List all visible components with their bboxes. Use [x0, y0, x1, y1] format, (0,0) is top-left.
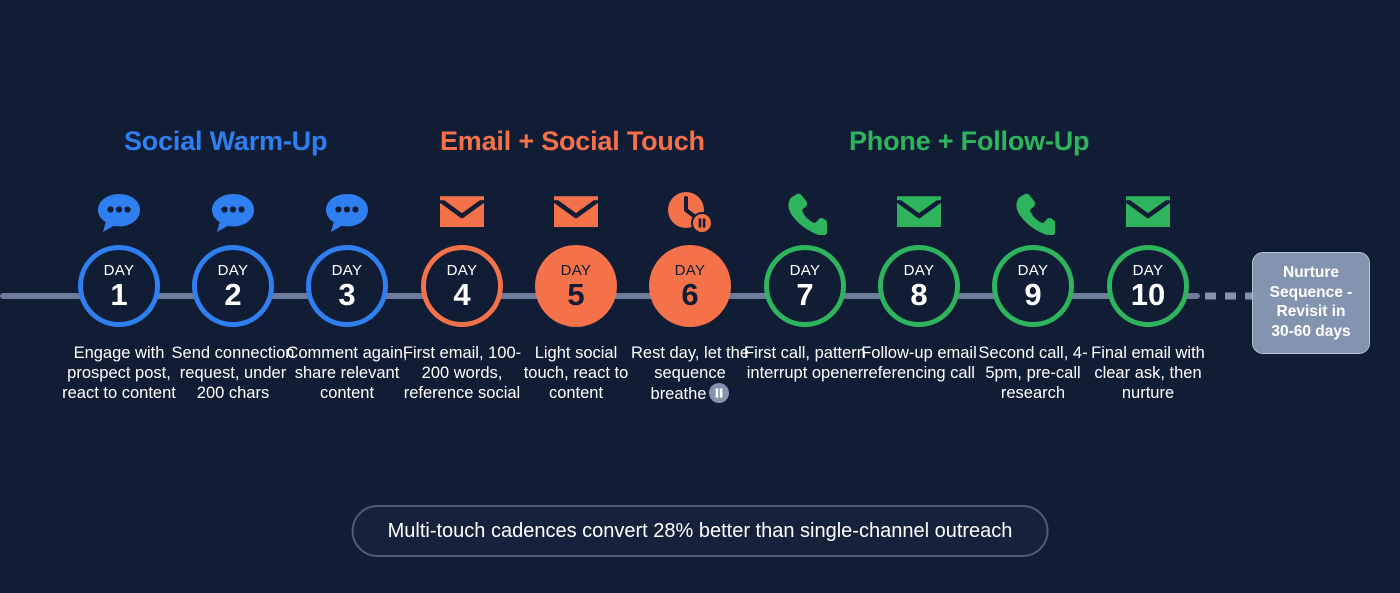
- day-word-label: DAY: [1133, 263, 1164, 278]
- day-caption-6: Rest day, let the sequence breathe: [628, 343, 752, 408]
- envelope-icon: [1088, 188, 1208, 238]
- timeline-node-day-8[interactable]: DAY8Follow-up email referencing call: [859, 188, 979, 383]
- nurture-sequence-box[interactable]: Nurture Sequence - Revisit in 30-60 days: [1252, 252, 1370, 354]
- day-word-label: DAY: [561, 263, 592, 278]
- day-caption-8: Follow-up email referencing call: [857, 343, 981, 383]
- timeline-node-day-6[interactable]: DAY6Rest day, let the sequence breathe: [630, 188, 750, 408]
- pause-icon: [709, 383, 729, 408]
- day-circle-1[interactable]: DAY1: [78, 245, 160, 327]
- day-caption-10: Final email with clear ask, then nurture: [1086, 343, 1210, 403]
- timeline-node-day-7[interactable]: DAY7First call, pattern interrupt opener: [745, 188, 865, 383]
- speech-bubble-icon: [59, 188, 179, 238]
- day-caption-text: Rest day, let the sequence breathe: [631, 344, 749, 403]
- day-circle-8[interactable]: DAY8: [878, 245, 960, 327]
- day-number: 4: [453, 279, 470, 310]
- clock-pause-icon: [630, 188, 750, 238]
- day-word-label: DAY: [790, 263, 821, 278]
- day-caption-text: Comment again, share relevant content: [286, 344, 407, 402]
- nurture-line-4: 30-60 days: [1259, 322, 1363, 342]
- nurture-line-1: Nurture: [1259, 263, 1363, 283]
- day-circle-5[interactable]: DAY5: [535, 245, 617, 327]
- stat-banner-text: Multi-touch cadences convert 28% better …: [388, 520, 1013, 542]
- day-number: 6: [681, 279, 698, 310]
- timeline-node-day-1[interactable]: DAY1Engage with prospect post, react to …: [59, 188, 179, 403]
- day-caption-9: Second call, 4-5pm, pre-call research: [971, 343, 1095, 403]
- timeline-node-day-9[interactable]: DAY9Second call, 4-5pm, pre-call researc…: [973, 188, 1093, 403]
- nurture-line-2: Sequence -: [1259, 283, 1363, 303]
- day-number: 1: [110, 279, 127, 310]
- day-number: 9: [1024, 279, 1041, 310]
- timeline-node-day-5[interactable]: DAY5Light social touch, react to content: [516, 188, 636, 403]
- day-number: 8: [910, 279, 927, 310]
- section-title-2: Email + Social Touch: [440, 126, 705, 157]
- day-number: 5: [567, 279, 584, 310]
- envelope-icon: [402, 188, 522, 238]
- section-title-1: Social Warm-Up: [124, 126, 327, 157]
- envelope-icon: [516, 188, 636, 238]
- day-word-label: DAY: [447, 263, 478, 278]
- timeline-node-day-3[interactable]: DAY3Comment again, share relevant conten…: [287, 188, 407, 403]
- day-word-label: DAY: [104, 263, 135, 278]
- day-word-label: DAY: [904, 263, 935, 278]
- day-caption-3: Comment again, share relevant content: [285, 343, 409, 403]
- day-word-label: DAY: [675, 263, 706, 278]
- day-circle-6[interactable]: DAY6: [649, 245, 731, 327]
- envelope-icon: [859, 188, 979, 238]
- day-number: 3: [338, 279, 355, 310]
- day-word-label: DAY: [332, 263, 363, 278]
- speech-bubble-icon: [173, 188, 293, 238]
- day-caption-text: Engage with prospect post, react to cont…: [62, 344, 176, 402]
- day-caption-text: Send connection request, under 200 chars: [172, 344, 295, 402]
- day-circle-9[interactable]: DAY9: [992, 245, 1074, 327]
- nurture-line-3: Revisit in: [1259, 302, 1363, 322]
- day-caption-text: Follow-up email referencing call: [861, 344, 977, 382]
- day-caption-text: Final email with clear ask, then nurture: [1091, 344, 1205, 402]
- day-caption-7: First call, pattern interrupt opener: [743, 343, 867, 383]
- day-number: 10: [1131, 279, 1165, 310]
- stat-banner: Multi-touch cadences convert 28% better …: [352, 505, 1049, 557]
- day-number: 2: [224, 279, 241, 310]
- day-caption-4: First email, 100-200 words, reference so…: [400, 343, 524, 403]
- day-word-label: DAY: [218, 263, 249, 278]
- infographic-canvas: Social Warm-UpEmail + Social TouchPhone …: [0, 0, 1400, 593]
- day-caption-text: First email, 100-200 words, reference so…: [403, 344, 521, 402]
- timeline-node-day-10[interactable]: DAY10Final email with clear ask, then nu…: [1088, 188, 1208, 403]
- phone-icon: [973, 188, 1093, 238]
- timeline-node-day-4[interactable]: DAY4First email, 100-200 words, referenc…: [402, 188, 522, 403]
- timeline-node-day-2[interactable]: DAY2Send connection request, under 200 c…: [173, 188, 293, 403]
- day-caption-1: Engage with prospect post, react to cont…: [57, 343, 181, 403]
- day-circle-2[interactable]: DAY2: [192, 245, 274, 327]
- day-circle-10[interactable]: DAY10: [1107, 245, 1189, 327]
- day-caption-5: Light social touch, react to content: [514, 343, 638, 403]
- day-circle-3[interactable]: DAY3: [306, 245, 388, 327]
- speech-bubble-icon: [287, 188, 407, 238]
- day-circle-4[interactable]: DAY4: [421, 245, 503, 327]
- day-caption-2: Send connection request, under 200 chars: [171, 343, 295, 403]
- day-number: 7: [796, 279, 813, 310]
- section-title-3: Phone + Follow-Up: [849, 126, 1089, 157]
- phone-icon: [745, 188, 865, 238]
- day-circle-7[interactable]: DAY7: [764, 245, 846, 327]
- day-caption-text: Light social touch, react to content: [524, 344, 629, 402]
- day-caption-text: Second call, 4-5pm, pre-call research: [978, 344, 1087, 402]
- day-word-label: DAY: [1018, 263, 1049, 278]
- day-caption-text: First call, pattern interrupt opener: [744, 344, 866, 382]
